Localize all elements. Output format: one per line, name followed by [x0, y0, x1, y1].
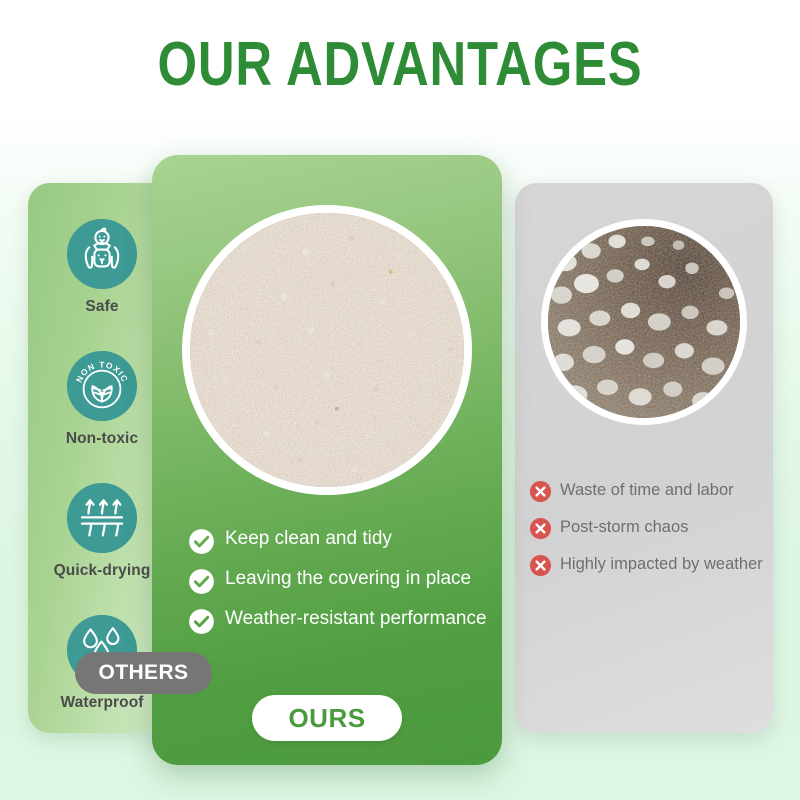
- ours-badge: OURS: [252, 695, 402, 741]
- list-item-label: Waste of time and labor: [560, 479, 734, 501]
- list-item-label: Weather-resistant performance: [225, 607, 487, 631]
- baby-and-pet-in-hands-icon: [67, 219, 137, 289]
- x-circle-icon: [529, 554, 552, 577]
- ours-gravel-photo: [182, 205, 472, 495]
- advantages-infographic: OUR ADVANTAGES: [0, 0, 800, 800]
- x-circle-icon: [529, 480, 552, 503]
- list-item-label: Leaving the covering in place: [225, 567, 471, 591]
- others-drawback-list: Waste of time and labor Post-storm chaos…: [529, 479, 777, 590]
- list-item-label: Highly impacted by weather: [560, 553, 763, 575]
- others-gravel-photo: [541, 219, 747, 425]
- list-item: Post-storm chaos: [529, 516, 777, 540]
- list-item: Waste of time and labor: [529, 479, 777, 503]
- others-comparison-card: Waste of time and labor Post-storm chaos…: [515, 183, 773, 733]
- list-item: Weather-resistant performance: [188, 607, 488, 635]
- x-circle-icon: [529, 517, 552, 540]
- list-item: Highly impacted by weather: [529, 553, 777, 577]
- check-circle-icon: [188, 568, 215, 595]
- page-title: OUR ADVANTAGES: [72, 34, 728, 96]
- check-circle-icon: [188, 528, 215, 555]
- list-item-label: Keep clean and tidy: [225, 527, 392, 551]
- non-toxic-leaves-badge-icon: NON TOXIC: [67, 351, 137, 421]
- others-badge: OTHERS: [75, 652, 212, 694]
- ours-benefit-list: Keep clean and tidy Leaving the covering…: [188, 527, 488, 647]
- list-item-label: Post-storm chaos: [560, 516, 688, 538]
- upward-airflow-arrows-icon: [67, 483, 137, 553]
- list-item: Leaving the covering in place: [188, 567, 488, 595]
- check-circle-icon: [188, 608, 215, 635]
- list-item: Keep clean and tidy: [188, 527, 488, 555]
